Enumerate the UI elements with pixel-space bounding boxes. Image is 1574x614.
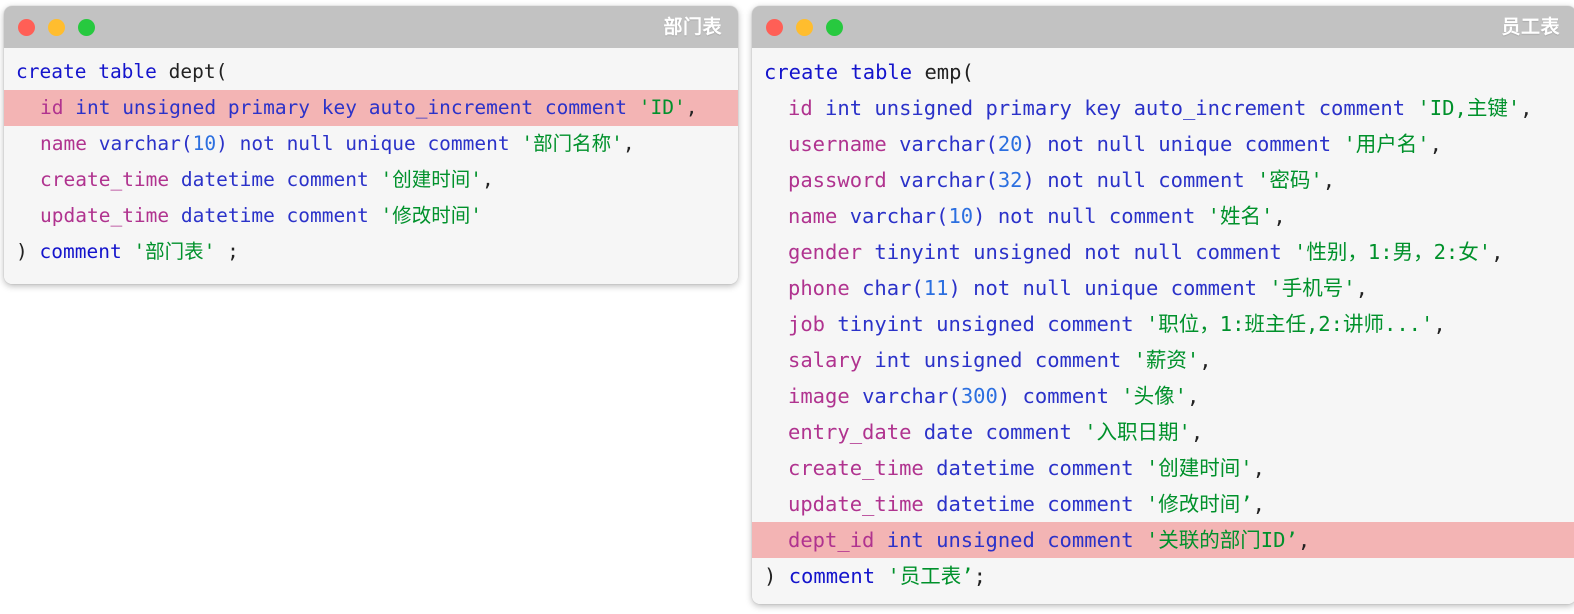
code-token-pun bbox=[1245, 168, 1257, 192]
code-token-typ: datetime comment bbox=[181, 204, 369, 227]
code-token-typ: datetime comment bbox=[936, 492, 1133, 516]
code-token-kw: table bbox=[850, 60, 912, 84]
code-token-typ: ) comment bbox=[998, 384, 1109, 408]
code-token-col: password bbox=[788, 168, 887, 192]
window-title-emp: 员工表 bbox=[1501, 18, 1560, 37]
code-token-pun bbox=[776, 564, 788, 588]
code-token-col: username bbox=[788, 132, 887, 156]
code-token-kw: create bbox=[16, 60, 86, 83]
code-token-str: '性别，1:男，2:女' bbox=[1294, 240, 1491, 264]
code-token-pun bbox=[1134, 492, 1146, 516]
code-token-str: 'ID' bbox=[639, 96, 686, 119]
code-token-str: '密码' bbox=[1257, 168, 1323, 192]
code-line[interactable]: gender tinyint unsigned not null comment… bbox=[752, 234, 1574, 270]
code-token-pun: , bbox=[1187, 384, 1199, 408]
window-controls-emp bbox=[766, 19, 843, 36]
code-line[interactable]: update_time datetime comment '修改时间’, bbox=[752, 486, 1574, 522]
code-token-col: gender bbox=[788, 240, 862, 264]
code-token-pun bbox=[837, 204, 849, 228]
code-token-pun bbox=[1405, 96, 1417, 120]
code-token-typ: varchar( bbox=[862, 384, 961, 408]
code-token-pun bbox=[86, 60, 98, 83]
code-token-pun bbox=[1134, 312, 1146, 336]
code-token-pun: emp( bbox=[924, 60, 973, 84]
code-token-pun bbox=[911, 420, 923, 444]
code-line[interactable]: id int unsigned primary key auto_increme… bbox=[752, 90, 1574, 126]
code-token-col: id bbox=[40, 96, 63, 119]
titlebar-dept[interactable]: 部门表 bbox=[4, 6, 738, 48]
code-token-num: 10 bbox=[193, 132, 216, 155]
code-token-col: name bbox=[788, 204, 837, 228]
code-token-str: '手机号' bbox=[1269, 276, 1355, 300]
code-token-typ: int unsigned comment bbox=[887, 528, 1134, 552]
code-line-highlighted[interactable]: id int unsigned primary key auto_increme… bbox=[4, 90, 738, 126]
code-token-col: create_time bbox=[788, 456, 924, 480]
code-line[interactable]: username varchar(20) not null unique com… bbox=[752, 126, 1574, 162]
code-token-pun: , bbox=[686, 96, 698, 119]
code-token-str: '创建时间' bbox=[380, 168, 481, 191]
code-token-typ: datetime comment bbox=[181, 168, 369, 191]
code-token-pun bbox=[157, 60, 169, 83]
code-line[interactable]: create table emp( bbox=[752, 54, 1574, 90]
code-token-col: id bbox=[788, 96, 813, 120]
code-token-typ: varchar( bbox=[99, 132, 193, 155]
code-token-pun: ; bbox=[215, 240, 238, 263]
code-token-pun bbox=[1072, 420, 1084, 444]
code-token-pun: ) bbox=[16, 240, 28, 263]
code-line[interactable]: entry_date date comment '入职日期', bbox=[752, 414, 1574, 450]
code-token-typ: ) not null unique comment bbox=[216, 132, 510, 155]
code-token-col: salary bbox=[788, 348, 862, 372]
code-token-typ: date comment bbox=[924, 420, 1072, 444]
minimize-button-icon[interactable] bbox=[796, 19, 813, 36]
code-token-typ: tinyint unsigned comment bbox=[837, 312, 1133, 336]
maximize-button-icon[interactable] bbox=[826, 19, 843, 36]
code-token-col: name bbox=[40, 132, 87, 155]
code-token-pun: , bbox=[1191, 420, 1203, 444]
code-token-pun bbox=[369, 168, 381, 191]
code-line[interactable]: phone char(11) not null unique comment '… bbox=[752, 270, 1574, 306]
code-token-col: update_time bbox=[788, 492, 924, 516]
code-token-pun bbox=[887, 132, 899, 156]
code-token-pun bbox=[627, 96, 639, 119]
code-line[interactable]: ) comment '部门表' ; bbox=[4, 234, 738, 270]
code-token-pun bbox=[1331, 132, 1343, 156]
code-token-pun: , bbox=[482, 168, 494, 191]
code-line[interactable]: create_time datetime comment '创建时间', bbox=[4, 162, 738, 198]
code-token-str: '关联的部门ID’ bbox=[1146, 528, 1298, 552]
code-line[interactable]: image varchar(300) comment '头像', bbox=[752, 378, 1574, 414]
code-token-str: '用户名' bbox=[1343, 132, 1429, 156]
code-token-typ: int unsigned comment bbox=[874, 348, 1121, 372]
code-token-pun: , bbox=[1323, 168, 1335, 192]
code-token-pun bbox=[825, 312, 837, 336]
code-block-emp[interactable]: create table emp(id int unsigned primary… bbox=[752, 48, 1574, 604]
code-token-kw: table bbox=[98, 60, 157, 83]
code-token-pun: , bbox=[1199, 348, 1211, 372]
code-token-pun bbox=[924, 492, 936, 516]
code-line[interactable]: job tinyint unsigned comment '职位，1:班主任,2… bbox=[752, 306, 1574, 342]
code-token-pun: ) bbox=[764, 564, 776, 588]
code-token-pun bbox=[813, 96, 825, 120]
code-token-typ: tinyint unsigned not null comment bbox=[874, 240, 1281, 264]
code-token-typ: ) not null unique comment bbox=[948, 276, 1257, 300]
code-token-col: job bbox=[788, 312, 825, 336]
code-token-pun bbox=[1121, 348, 1133, 372]
code-token-kw: comment bbox=[40, 240, 122, 263]
code-token-typ: ) not null comment bbox=[973, 204, 1195, 228]
code-token-pun bbox=[850, 384, 862, 408]
code-token-pun bbox=[1195, 204, 1207, 228]
code-token-typ: int unsigned primary key auto_increment … bbox=[825, 96, 1405, 120]
code-token-pun: , bbox=[1253, 456, 1265, 480]
code-token-str: 'ID,主键' bbox=[1417, 96, 1520, 120]
code-line[interactable]: create table dept( bbox=[4, 54, 738, 90]
code-token-str: '头像' bbox=[1121, 384, 1187, 408]
window-controls-dept bbox=[18, 19, 95, 36]
code-token-num: 20 bbox=[998, 132, 1023, 156]
code-block-dept[interactable]: create table dept(id int unsigned primar… bbox=[4, 48, 738, 284]
code-token-pun bbox=[169, 204, 181, 227]
code-token-pun bbox=[887, 168, 899, 192]
code-token-pun bbox=[122, 240, 134, 263]
code-window-emp: 员工表 create table emp(id int unsigned pri… bbox=[752, 6, 1574, 604]
code-line[interactable]: ) comment '员工表’; bbox=[752, 558, 1574, 594]
code-token-pun bbox=[838, 60, 850, 84]
code-token-col: image bbox=[788, 384, 850, 408]
code-token-pun: ; bbox=[974, 564, 986, 588]
code-token-pun bbox=[862, 240, 874, 264]
code-token-pun: , bbox=[1520, 96, 1532, 120]
code-token-col: update_time bbox=[40, 204, 169, 227]
code-token-str: '修改时间’ bbox=[1146, 492, 1253, 516]
code-token-num: 32 bbox=[998, 168, 1023, 192]
code-token-kw: comment bbox=[789, 564, 875, 588]
code-token-col: create_time bbox=[40, 168, 169, 191]
code-token-col: phone bbox=[788, 276, 850, 300]
code-token-str: '入职日期' bbox=[1084, 420, 1191, 444]
code-token-kw: create bbox=[764, 60, 838, 84]
code-token-typ: int unsigned primary key auto_increment … bbox=[75, 96, 627, 119]
code-token-num: 10 bbox=[948, 204, 973, 228]
maximize-button-icon[interactable] bbox=[78, 19, 95, 36]
code-token-pun bbox=[1134, 528, 1146, 552]
screenshot-root: 部门表 create table dept(id int unsigned pr… bbox=[0, 0, 1574, 614]
code-token-typ: varchar( bbox=[850, 204, 949, 228]
code-token-pun bbox=[862, 348, 874, 372]
code-token-pun bbox=[875, 564, 887, 588]
code-token-pun bbox=[63, 96, 75, 119]
close-button-icon[interactable] bbox=[18, 19, 35, 36]
code-token-pun: dept( bbox=[169, 60, 228, 83]
code-token-typ: datetime comment bbox=[936, 456, 1133, 480]
code-token-pun: , bbox=[623, 132, 635, 155]
code-token-pun: , bbox=[1253, 492, 1265, 516]
code-token-pun: , bbox=[1356, 276, 1368, 300]
code-token-str: '创建时间' bbox=[1146, 456, 1253, 480]
code-token-pun: , bbox=[1430, 132, 1442, 156]
code-token-pun bbox=[28, 240, 40, 263]
titlebar-emp[interactable]: 员工表 bbox=[752, 6, 1574, 48]
code-token-typ: char( bbox=[862, 276, 924, 300]
code-token-str: '职位，1:班主任,2:讲师...' bbox=[1146, 312, 1433, 336]
code-token-pun bbox=[1257, 276, 1269, 300]
code-token-pun bbox=[850, 276, 862, 300]
code-token-num: 11 bbox=[924, 276, 949, 300]
minimize-button-icon[interactable] bbox=[48, 19, 65, 36]
code-token-str: '修改时间' bbox=[380, 204, 481, 227]
code-token-pun: , bbox=[1273, 204, 1285, 228]
code-token-pun bbox=[1109, 384, 1121, 408]
code-token-col: entry_date bbox=[788, 420, 911, 444]
code-token-typ: ) not null unique comment bbox=[1023, 132, 1332, 156]
code-token-str: '姓名' bbox=[1208, 204, 1274, 228]
window-title-dept: 部门表 bbox=[663, 18, 722, 37]
code-token-pun bbox=[169, 168, 181, 191]
code-token-pun bbox=[369, 204, 381, 227]
code-token-typ: ) not null comment bbox=[1023, 168, 1245, 192]
code-token-pun bbox=[1134, 456, 1146, 480]
code-token-pun bbox=[510, 132, 522, 155]
code-token-num: 300 bbox=[961, 384, 998, 408]
code-token-col: dept_id bbox=[788, 528, 874, 552]
code-token-str: '部门表' bbox=[133, 240, 215, 263]
code-token-typ: varchar( bbox=[899, 132, 998, 156]
code-line[interactable]: password varchar(32) not null comment '密… bbox=[752, 162, 1574, 198]
code-token-pun bbox=[87, 132, 99, 155]
code-line[interactable]: salary int unsigned comment '薪资', bbox=[752, 342, 1574, 378]
code-token-typ: varchar( bbox=[899, 168, 998, 192]
code-line[interactable]: update_time datetime comment '修改时间' bbox=[4, 198, 738, 234]
code-token-str: '员工表’ bbox=[887, 564, 973, 588]
code-token-pun: , bbox=[1298, 528, 1310, 552]
code-token-str: '部门名称' bbox=[521, 132, 622, 155]
code-token-pun bbox=[912, 60, 924, 84]
code-token-str: '薪资' bbox=[1134, 348, 1200, 372]
code-token-pun bbox=[874, 528, 886, 552]
code-line-highlighted[interactable]: dept_id int unsigned comment '关联的部门ID’, bbox=[752, 522, 1574, 558]
code-token-pun: , bbox=[1433, 312, 1445, 336]
code-line[interactable]: create_time datetime comment '创建时间', bbox=[752, 450, 1574, 486]
code-token-pun: , bbox=[1491, 240, 1503, 264]
code-token-pun bbox=[1282, 240, 1294, 264]
close-button-icon[interactable] bbox=[766, 19, 783, 36]
code-line[interactable]: name varchar(10) not null unique comment… bbox=[4, 126, 738, 162]
code-line[interactable]: name varchar(10) not null comment '姓名', bbox=[752, 198, 1574, 234]
code-token-pun bbox=[924, 456, 936, 480]
code-window-dept: 部门表 create table dept(id int unsigned pr… bbox=[4, 6, 738, 284]
